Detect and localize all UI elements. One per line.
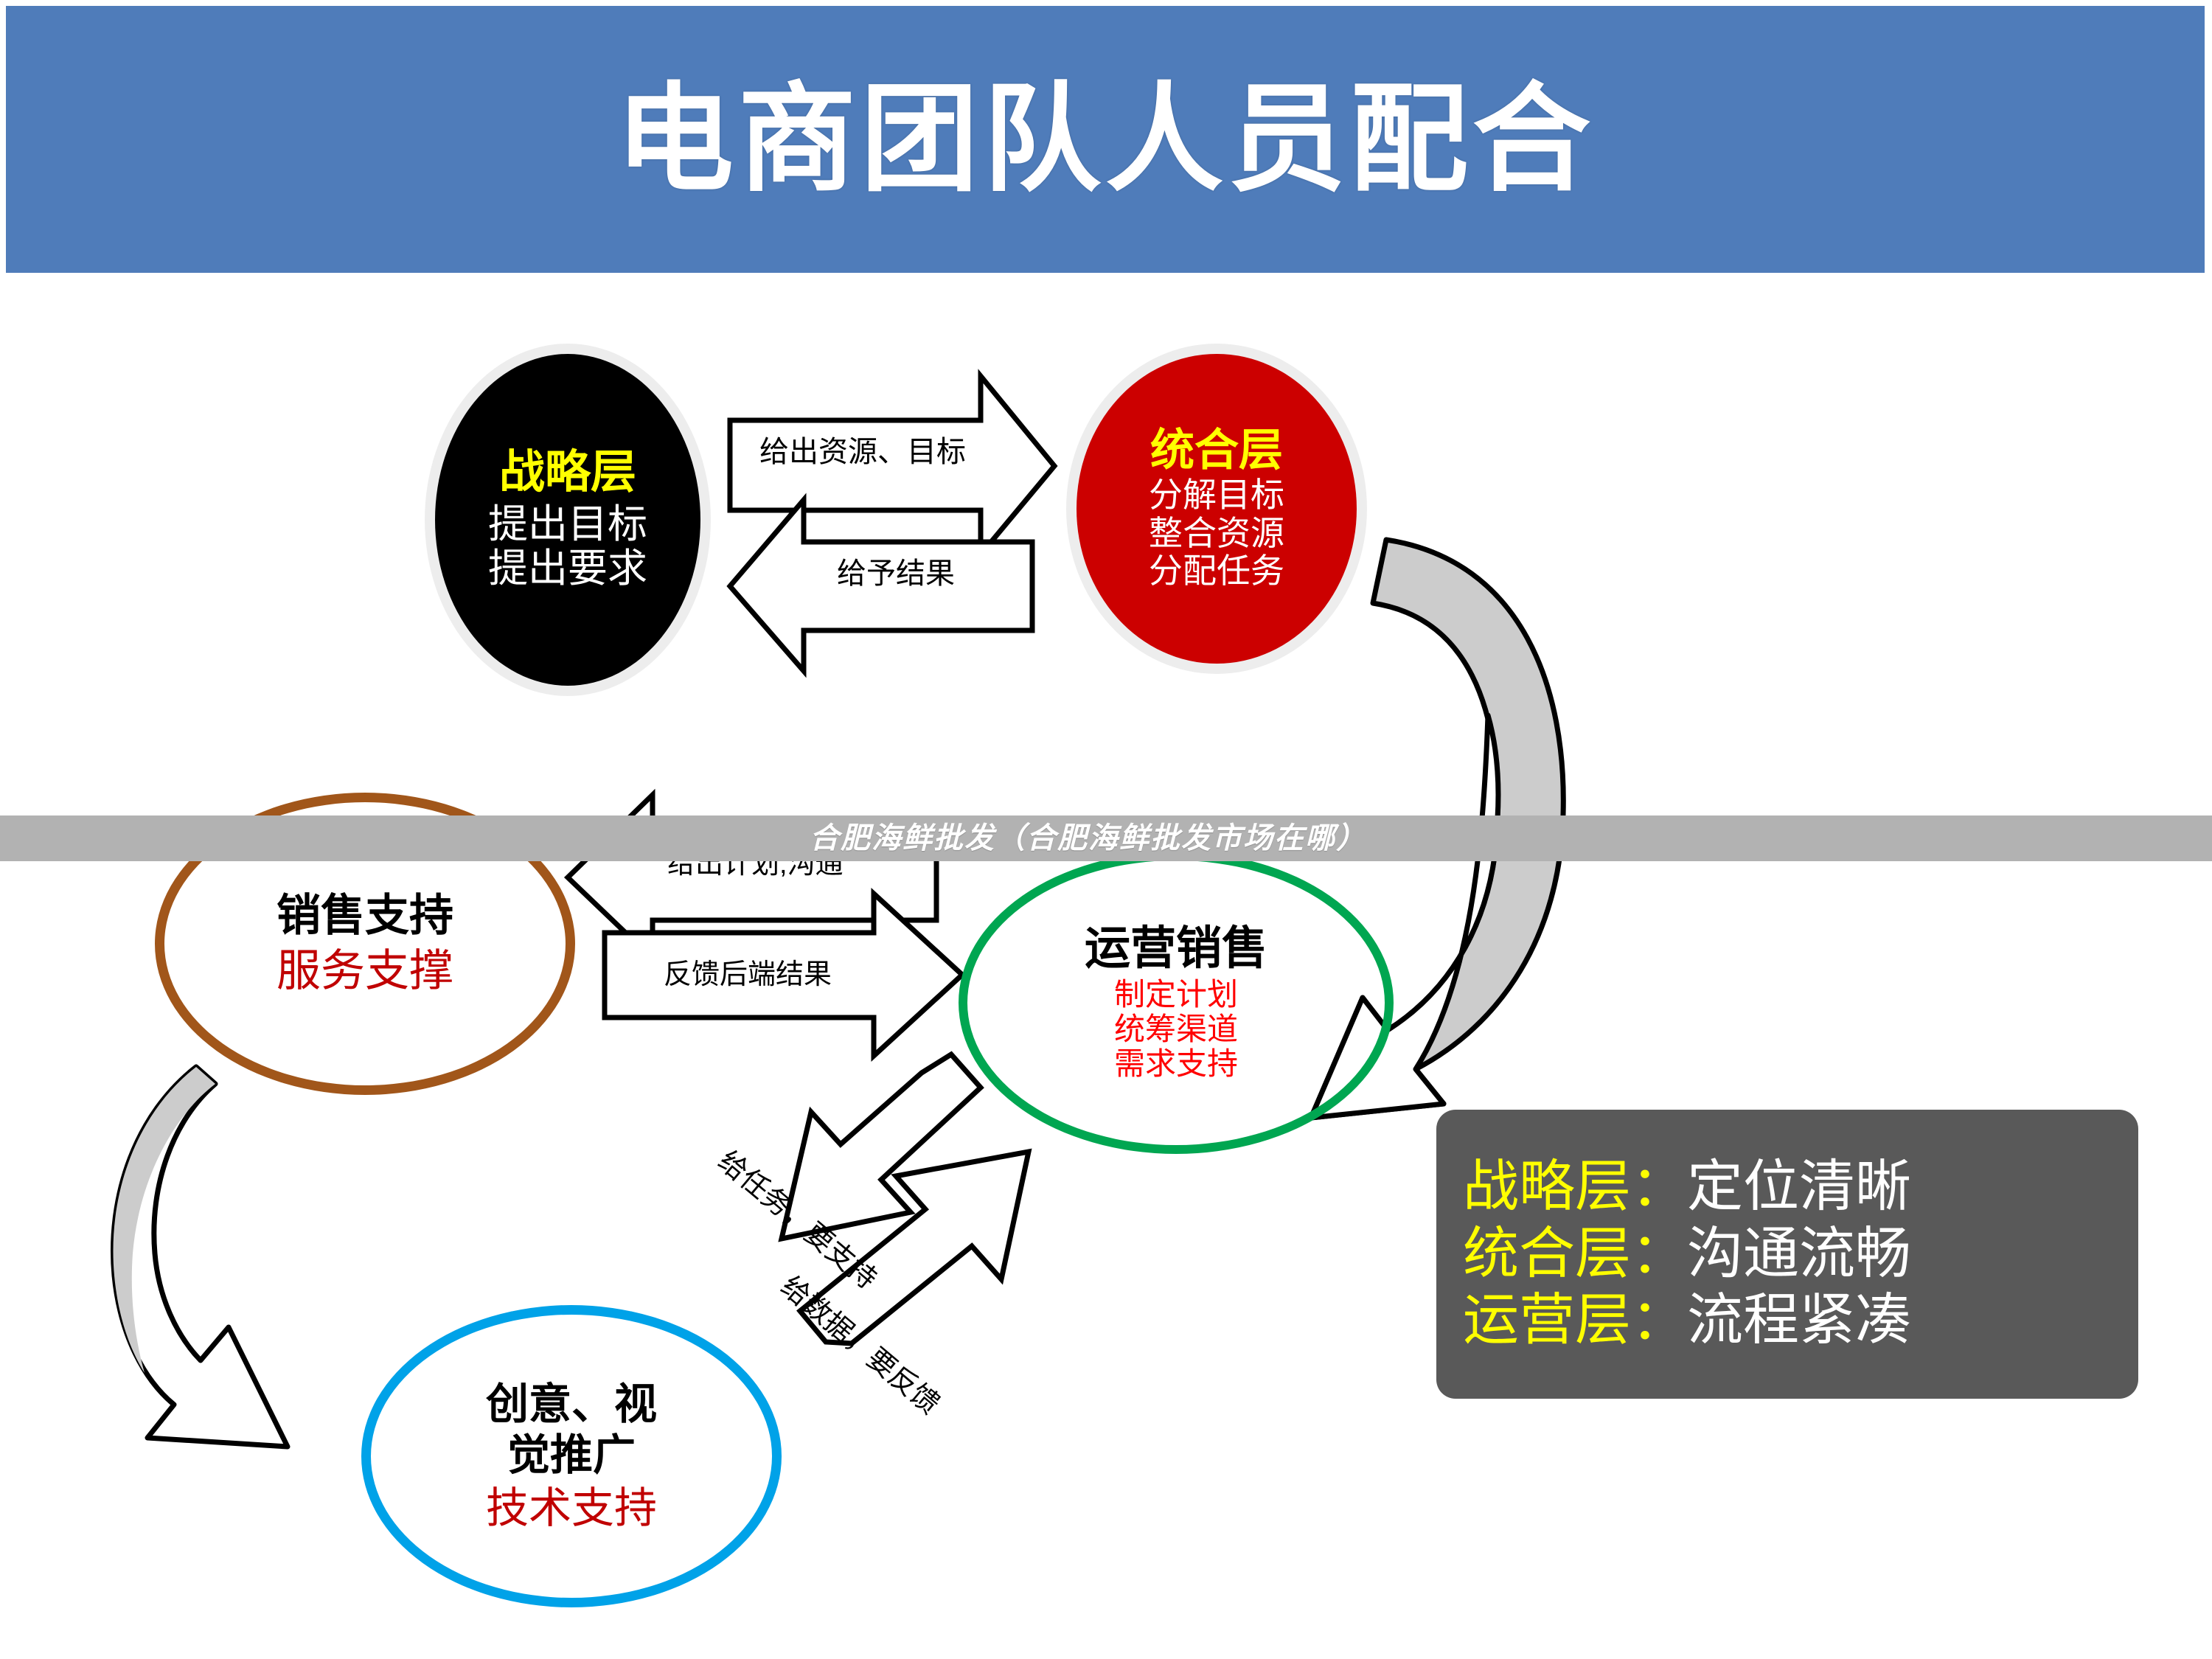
node-operation-line-1: 制定计划 <box>1114 977 1238 1012</box>
node-creative-promotion[interactable]: 创意、视 觉推广 技术支持 <box>361 1305 782 1607</box>
node-creative-line-1: 技术支持 <box>486 1485 657 1533</box>
summary-value-strategy: 定位清晰 <box>1687 1158 1911 1217</box>
summary-row: 运营层 ： 流程紧凑 <box>1463 1291 2112 1351</box>
node-operation-title: 运营销售 <box>1085 925 1267 974</box>
node-strategy-line-1: 提出目标 <box>488 502 647 546</box>
node-sales-title: 销售支持 <box>276 892 453 940</box>
summary-value-operation: 流程紧凑 <box>1687 1291 1911 1351</box>
node-creative-title-line-2: 觉推广 <box>507 1430 636 1481</box>
node-integration-line-2: 整合资源 <box>1149 515 1284 553</box>
node-operation-sales[interactable]: 运营销售 制定计划 统筹渠道 需求支持 <box>959 852 1394 1154</box>
summary-panel: 战略层 ： 定位清晰 统合层 ： 沟通流畅 运营层 ： 流程紧凑 <box>1436 1110 2138 1399</box>
node-operation-line-2: 统筹渠道 <box>1114 1012 1238 1046</box>
node-creative-title-line-1: 创意、视 <box>486 1380 657 1430</box>
summary-row: 统合层 ： 沟通流畅 <box>1463 1225 2112 1284</box>
arrow-sales-to-creative <box>113 1067 288 1447</box>
summary-key-integration: 统合层 <box>1463 1225 1631 1284</box>
summary-value-integration: 沟通流畅 <box>1687 1225 1911 1284</box>
node-integration-line-1: 分解目标 <box>1149 476 1284 515</box>
watermark-text: 合肥海鲜批发（合肥海鲜批发市场在哪） <box>810 814 1367 857</box>
node-operation-line-3: 需求支持 <box>1114 1046 1238 1081</box>
summary-separator: ： <box>1631 1225 1687 1284</box>
node-integration-layer[interactable]: 统合层 分解目标 整合资源 分配任务 <box>1077 354 1357 664</box>
summary-key-operation: 运营层 <box>1463 1291 1631 1351</box>
node-integration-title: 统合层 <box>1150 427 1283 475</box>
node-strategy-layer[interactable]: 战略层 提出目标 提出要求 <box>435 354 700 686</box>
summary-separator: ： <box>1631 1158 1687 1217</box>
node-integration-line-3: 分配任务 <box>1149 552 1284 591</box>
slide-canvas: 电商团队人员配合 给出资源、目标 给予结果 给出计划,沟通 反馈后端结果 给任务… <box>0 0 2212 1659</box>
summary-row: 战略层 ： 定位清晰 <box>1463 1158 2112 1217</box>
summary-key-strategy: 战略层 <box>1463 1158 1631 1217</box>
summary-separator: ： <box>1631 1291 1687 1351</box>
node-strategy-line-2: 提出要求 <box>488 546 647 591</box>
node-strategy-title: 战略层 <box>499 448 636 498</box>
node-sales-line-1: 服务支撑 <box>276 946 453 995</box>
